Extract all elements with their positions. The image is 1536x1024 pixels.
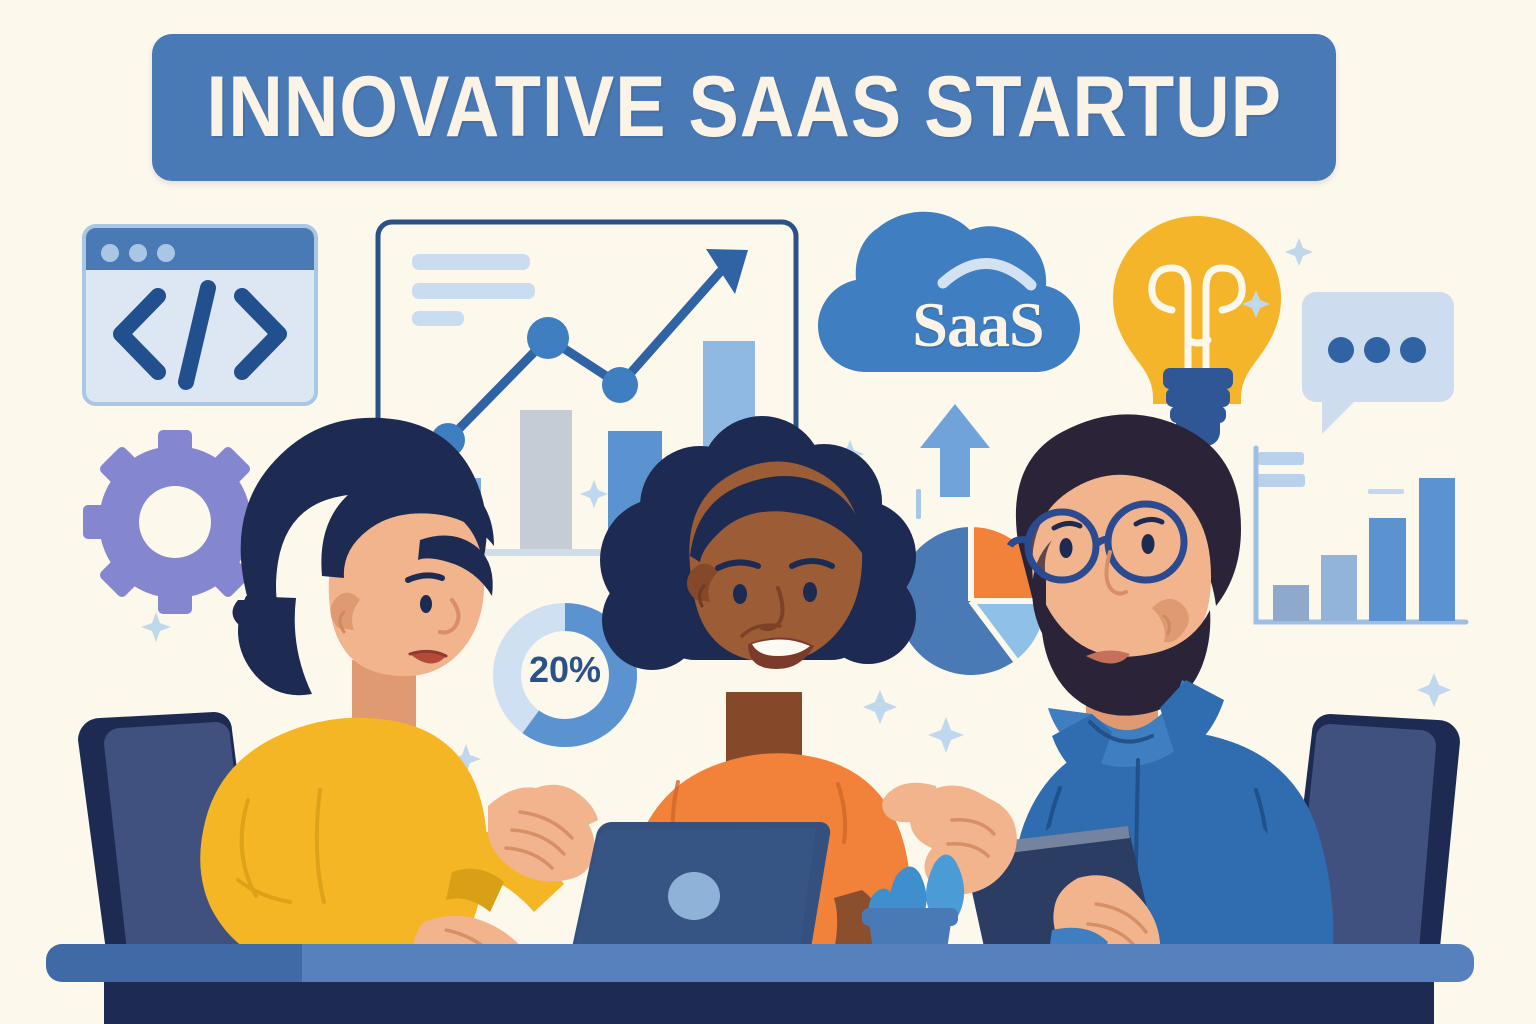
page-title: INNOVATIVE SAAS STARTUP [206,58,1282,157]
desk [46,944,1474,1024]
pie-chart [897,527,1045,675]
trend-marker [527,317,569,359]
bubble-dot [1328,337,1354,363]
panel-baseline [424,549,760,556]
hand-gesture [488,785,598,882]
speech-bubble-icon [1302,292,1454,434]
trend-marker [602,367,638,403]
bubble-dot [1400,337,1426,363]
eye [420,595,432,613]
eye [803,582,817,602]
tablet [962,826,1152,956]
title-banner: INNOVATIVE SAAS STARTUP [152,34,1336,181]
bar-3 [608,431,662,553]
eye [733,584,747,604]
cloud-label: SaaS [873,288,1083,362]
trend-line [448,272,720,440]
person-left-woman [200,418,598,983]
star-icon [141,238,1451,774]
window-dot [157,244,175,262]
side-bar-tick [1368,489,1404,494]
laptop-logo [668,872,720,920]
dashboard-panel [378,222,796,560]
side-bar-2 [1321,555,1357,621]
side-bar-4 [1419,478,1455,621]
arrow-tick [916,489,921,519]
panel-bar-group [429,341,755,553]
sparkle-icon [305,450,347,492]
person-center [600,416,916,968]
code-glyph [121,288,279,382]
side-bar-3 [1369,518,1406,621]
gear-icon [83,430,267,614]
filament [1152,268,1242,370]
side-bar-1 [1273,585,1309,621]
potted-plant [862,854,964,980]
bulb-base [1163,368,1233,446]
window-dot [129,244,147,262]
hand-hold-tablet [1053,875,1160,976]
side-bar-chart [1255,448,1466,622]
laptop [440,822,838,966]
window-dot [101,244,119,262]
lightbulb-icon [1113,216,1281,446]
illustration-canvas: SaaS 20% [0,0,1536,1024]
hand-typing [413,916,532,966]
bar-1 [429,478,481,553]
afro-hair [600,416,916,670]
eye [1142,534,1155,554]
up-arrow-icon [920,404,990,497]
code-window-icon [84,226,316,404]
pie-slice-lightblue [971,601,1045,660]
eye [1060,538,1073,558]
glasses-icon [1010,504,1184,580]
bar-2 [520,410,572,553]
pie-slice-blue [897,527,1015,675]
bubble-dot [1364,337,1390,363]
office-chair-left [78,712,262,966]
pie-slice-orange [971,527,1045,601]
office-chair-right [1284,714,1460,968]
person-right-man [882,414,1333,976]
hand-pointing [882,783,1017,895]
trend-arrow-head [706,249,748,294]
trend-marker [431,423,465,457]
donut-center-label: 20% [505,648,625,692]
placeholder-text-bars [412,254,535,326]
side-chart-legend [1255,452,1305,487]
bar-4 [703,341,755,553]
